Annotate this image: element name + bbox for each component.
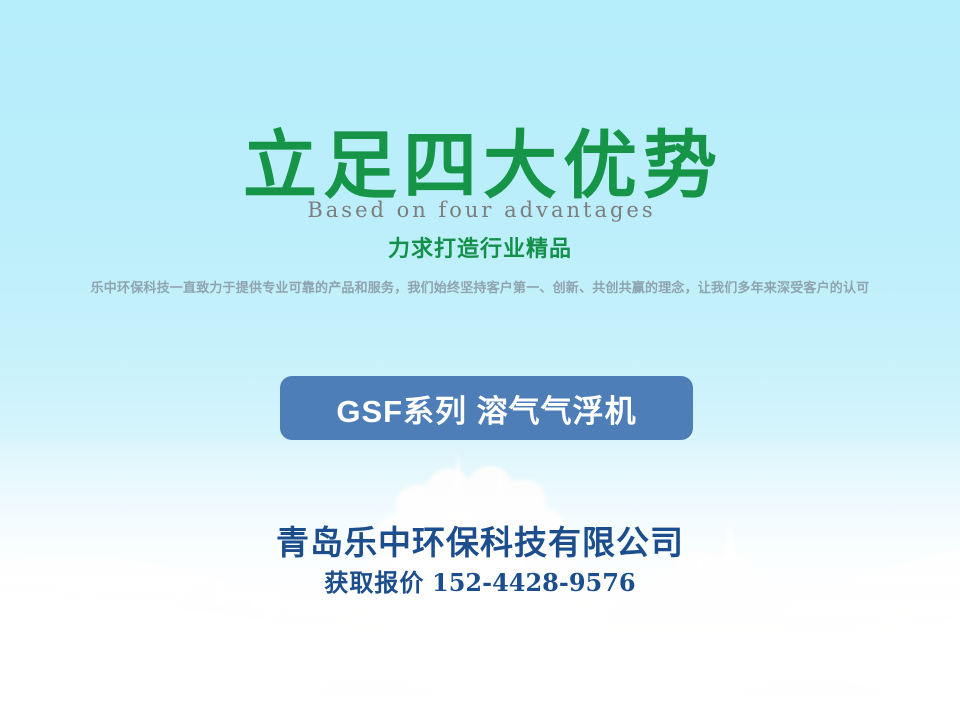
quote-label: 获取报价 [324,570,424,597]
promotional-banner: 立足四大优势 Based on four advantages 力求打造行业精品… [0,0,960,720]
banner-content: 立足四大优势 Based on four advantages 力求打造行业精品… [0,0,960,720]
chinese-subtitle: 力求打造行业精品 [0,231,960,263]
english-subtitle: Based on four advantages [0,198,960,222]
product-name-button[interactable]: GSF系列 溶气气浮机 [280,376,693,440]
quote-contact-line: 获取报价 152-4428-9576 [0,563,960,598]
company-description: 乐中环保科技一直致力于提供专业可靠的产品和服务，我们始终坚持客户第一、创新、共创… [0,277,960,296]
company-name: 青岛乐中环保科技有限公司 [0,516,960,564]
phone-number[interactable]: 152-4428-9576 [432,568,636,597]
page-title: 立足四大优势 [0,126,960,206]
